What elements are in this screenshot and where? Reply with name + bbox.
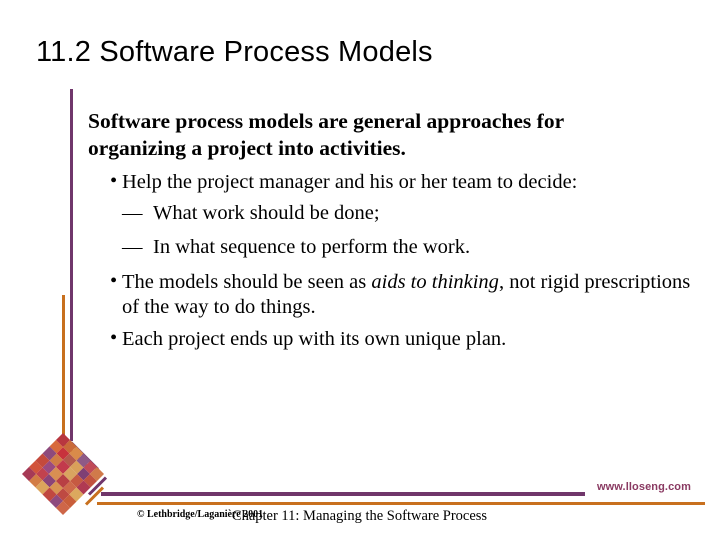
slide-body: Software process models are general appr… (88, 108, 688, 352)
slide-title: 11.2 Software Process Models (36, 36, 433, 69)
chapter-footer-text: Chapter 11: Managing the Software Proces… (0, 508, 719, 525)
bullet-list: • Help the project manager and his or he… (88, 170, 688, 352)
footer-rule-purple (101, 492, 585, 496)
list-item: • Each project ends up with its own uniq… (88, 327, 692, 353)
quilt-tiles (22, 433, 104, 515)
sub-item-text: What work should be done; (153, 202, 380, 224)
bullet-glyph: • (110, 269, 117, 295)
lead-statement: Software process models are general appr… (88, 108, 648, 162)
list-item: — In what sequence to perform the work. (122, 235, 692, 261)
bullet-glyph: • (110, 169, 117, 195)
list-item: — What work should be done; (122, 201, 692, 227)
sub-bullet-list: — What work should be done; — In what se… (122, 201, 692, 261)
dash-glyph: — (122, 235, 143, 261)
emphasized-phrase: aids to thinking (371, 271, 499, 293)
sub-item-text: In what sequence to perform the work. (153, 236, 470, 258)
list-item-text: Help the project manager and his or her … (122, 171, 577, 193)
dash-glyph: — (122, 201, 143, 227)
footer-rule-orange (97, 502, 705, 505)
left-vertical-rule-purple (70, 89, 73, 441)
list-item-text: Each project ends up with its own unique… (122, 328, 506, 350)
list-item: • Help the project manager and his or he… (88, 170, 692, 261)
left-vertical-rule-orange (62, 295, 65, 441)
site-url[interactable]: www.lloseng.com (597, 481, 691, 493)
list-item: • The models should be seen as aids to t… (88, 270, 692, 321)
bullet-glyph: • (110, 326, 117, 352)
checkered-quilt-logo (26, 437, 102, 513)
slide-canvas: 11.2 Software Process Models Software pr… (0, 0, 719, 539)
list-item-text-part-1: The models should be seen as (122, 271, 371, 293)
